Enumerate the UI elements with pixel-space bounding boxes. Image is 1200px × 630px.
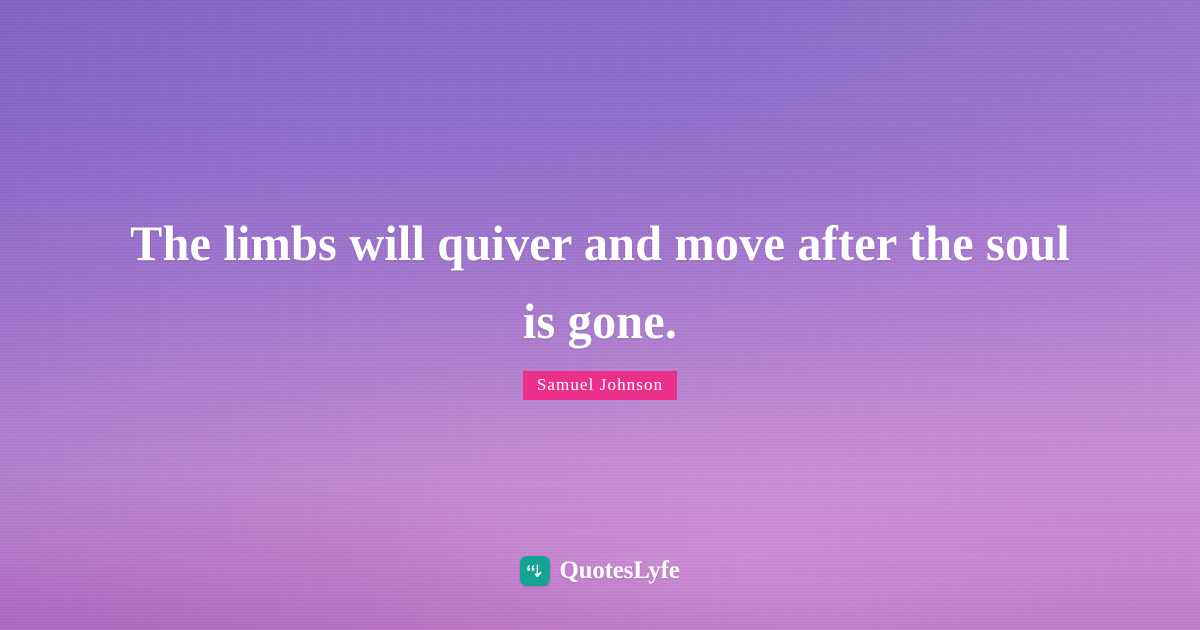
- brand-name: QuotesLyfe: [559, 557, 679, 585]
- quote-card-content: The limbs will quiver and move after the…: [0, 0, 1200, 630]
- quote-mark-icon: [520, 556, 550, 586]
- quote-card: The limbs will quiver and move after the…: [0, 0, 1200, 630]
- author-name-badge: Samuel Johnson: [523, 371, 677, 400]
- quote-text: The limbs will quiver and move after the…: [79, 204, 1121, 360]
- author-badge-row: Samuel Johnson: [0, 371, 1200, 400]
- brand-logo: QuotesLyfe: [0, 556, 1200, 586]
